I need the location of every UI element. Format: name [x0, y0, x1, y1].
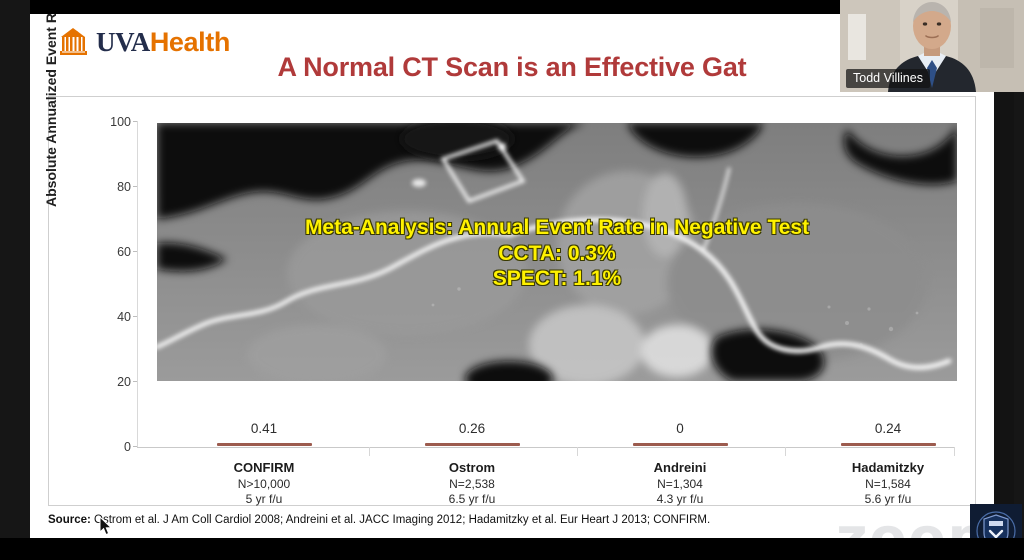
bar-ostrom — [425, 443, 520, 446]
y-tick-100: 100 — [101, 115, 131, 129]
y-tick-60: 60 — [101, 245, 131, 259]
category-followup: 5.6 yr f/u — [813, 492, 963, 508]
x-axis-line — [137, 447, 955, 448]
source-text: Ostrom et al. J Am Coll Cardiol 2008; An… — [91, 514, 710, 526]
y-tick-80: 80 — [101, 180, 131, 194]
category-andreini: Andreini N=1,304 4.3 yr f/u — [605, 459, 755, 508]
category-name: Ostrom — [397, 459, 547, 477]
category-sample-size: N=1,584 — [813, 477, 963, 493]
category-followup: 6.5 yr f/u — [397, 492, 547, 508]
category-name: CONFIRM — [189, 459, 339, 477]
participant-name-label: Todd Villines — [846, 69, 930, 88]
bar-andreini — [633, 443, 728, 446]
shared-slide: UVAHealth A Normal CT Scan is an Effecti… — [30, 14, 994, 538]
bar-confirm — [217, 443, 312, 446]
video-participant-tile[interactable]: Todd Villines — [840, 0, 1024, 92]
bar-value-andreini: 0 — [605, 421, 755, 436]
category-name: Andreini — [605, 459, 755, 477]
y-tick-20: 20 — [101, 375, 131, 389]
window-bottom-letterbox — [0, 538, 1024, 560]
chart-container: Absolute Annualized Event Rate 100 80 60… — [48, 96, 976, 506]
category-sample-size: N=2,538 — [397, 477, 547, 493]
window-left-letterbox — [0, 0, 30, 560]
ct-scan-graphic — [157, 123, 957, 381]
bar-value-confirm: 0.41 — [189, 421, 339, 436]
y-tick-0: 0 — [101, 440, 131, 454]
y-axis-line — [137, 121, 138, 447]
category-followup: 4.3 yr f/u — [605, 492, 755, 508]
category-confirm: CONFIRM N>10,000 5 yr f/u — [189, 459, 339, 508]
zoom-screenshare-window: UVAHealth A Normal CT Scan is an Effecti… — [0, 0, 1024, 560]
category-name: Hadamitzky — [813, 459, 963, 477]
bar-hadamitzky — [841, 443, 936, 446]
category-sample-size: N=1,304 — [605, 477, 755, 493]
source-citation: Source: Ostrom et al. J Am Coll Cardiol … — [48, 514, 948, 526]
y-tick-40: 40 — [101, 310, 131, 324]
category-hadamitzky: Hadamitzky N=1,584 5.6 yr f/u — [813, 459, 963, 508]
category-sample-size: N>10,000 — [189, 477, 339, 493]
ct-scan-image: Meta-Analysis: Annual Event Rate in Nega… — [157, 123, 957, 381]
bar-value-ostrom: 0.26 — [397, 421, 547, 436]
y-axis-label: Absolute Annualized Event Rate — [43, 14, 59, 207]
category-followup: 5 yr f/u — [189, 492, 339, 508]
mouse-cursor — [99, 516, 113, 536]
category-ostrom: Ostrom N=2,538 6.5 yr f/u — [397, 459, 547, 508]
source-label: Source: — [48, 514, 91, 526]
bar-value-hadamitzky: 0.24 — [813, 421, 963, 436]
